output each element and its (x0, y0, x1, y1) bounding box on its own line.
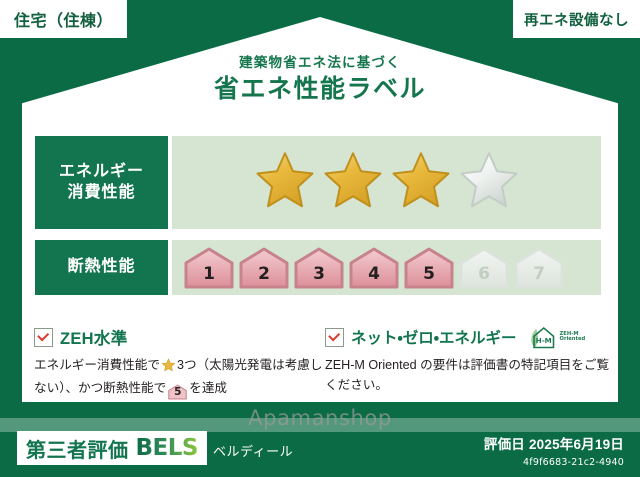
star-filled-icon (322, 150, 384, 215)
insulation-grade-active: 3 (293, 246, 345, 290)
insulation-grade-active: 1 (183, 246, 235, 290)
energy-consumption-label-line1: エネルギー (59, 162, 144, 182)
svg-text:H-M: H-M (535, 336, 551, 345)
criteria-zeh-body-part3: を達成 (189, 381, 227, 395)
energy-performance-label: 住宅（住棟） 再エネ設備なし 建築物省エネ法に基づく 省エネ性能ラベル エネルギ… (0, 0, 640, 477)
insulation-grade-inactive: 7 (513, 246, 565, 290)
star-empty-icon (458, 150, 520, 215)
criteria-net-zero-energy: ネット・ゼロ・エネルギー H-M ZEH-M Oriented (325, 325, 615, 396)
building-name: ベルディール (213, 441, 293, 460)
title-subtitle: 建築物省エネ法に基づく (0, 56, 640, 71)
insulation-performance-label-line1: 断熱性能 (67, 257, 135, 277)
title-main: 省エネ性能ラベル (0, 76, 640, 104)
zeh-m-logo-caption-line2: Oriented (560, 337, 586, 342)
star-filled-icon (390, 150, 452, 215)
page-title: 建築物省エネ法に基づく 省エネ性能ラベル (0, 56, 640, 103)
energy-consumption-value (172, 136, 601, 229)
insulation-grade-value: 7 (533, 264, 545, 290)
insulation-grade-value: 6 (478, 264, 490, 290)
checkbox-checked-icon (34, 328, 53, 347)
insulation-grade-value: 3 (313, 264, 325, 290)
insulation-grade-value: 4 (368, 264, 380, 290)
insulation-performance-value: 1234567 (172, 240, 601, 295)
insulation-grade-value: 1 (203, 264, 215, 290)
star-rating (254, 150, 520, 215)
insulation-performance-row: 断熱性能 1234567 (35, 240, 601, 295)
checkbox-checked-icon (325, 328, 344, 347)
energy-consumption-label: エネルギー 消費性能 (35, 136, 168, 229)
evaluation-info: 評価日 2025年6月19日 4f9f6683-21c2-4940 (484, 433, 624, 468)
evaluation-id: 4f9f6683-21c2-4940 (484, 457, 624, 468)
bels-badge-jp-label: 第三者評価 (26, 434, 129, 463)
criteria-net-zero-body: ZEH-M Oriented の要件は評価書の特記項目をご覧ください。 (325, 356, 615, 396)
insulation-grade-scale: 1234567 (183, 246, 565, 290)
zeh-m-oriented-logo: H-M ZEH-M Oriented (528, 325, 586, 349)
criteria-net-zero-heading: ネット・ゼロ・エネルギー H-M ZEH-M Oriented (325, 325, 615, 349)
insulation-grade-active: 5 (403, 246, 455, 290)
criteria-net-zero-title: ネット・ゼロ・エネルギー (351, 326, 517, 348)
insulation-grade-value: 5 (423, 264, 435, 290)
insulation-grade-value: 2 (258, 264, 270, 290)
building-type-tag: 住宅（住棟） (0, 0, 127, 38)
renewable-energy-tag: 再エネ設備なし (513, 0, 640, 38)
insulation-grade-inactive: 6 (458, 246, 510, 290)
insulation-grade-active: 2 (238, 246, 290, 290)
criteria-zeh-heading: ZEH水準 (34, 325, 324, 349)
criteria-zeh-body: エネルギー消費性能で3つ（太陽光発電は考慮しない）、かつ断熱性能で5を達成 (34, 356, 324, 400)
inline-star-icon (161, 361, 176, 375)
bels-badge-en-label: BELS (136, 435, 198, 461)
inline-grade-badge: 5 (168, 384, 187, 400)
criteria-zeh-standard: ZEH水準 エネルギー消費性能で3つ（太陽光発電は考慮しない）、かつ断熱性能で5… (34, 325, 324, 400)
energy-consumption-row: エネルギー 消費性能 (35, 136, 601, 229)
insulation-grade-active: 4 (348, 246, 400, 290)
evaluation-date: 評価日 2025年6月19日 (484, 433, 624, 453)
criteria-zeh-body-part1: エネルギー消費性能で (34, 358, 160, 372)
inline-grade-badge-value: 5 (168, 384, 187, 400)
star-filled-icon (254, 150, 316, 215)
criteria-zeh-title: ZEH水準 (60, 325, 128, 349)
bels-badge: 第三者評価 BELS (17, 431, 207, 465)
insulation-performance-label: 断熱性能 (35, 240, 168, 295)
energy-consumption-label-line2: 消費性能 (67, 183, 135, 203)
bottom-bar: 第三者評価 BELS ベルディール 評価日 2025年6月19日 4f9f668… (0, 420, 640, 477)
